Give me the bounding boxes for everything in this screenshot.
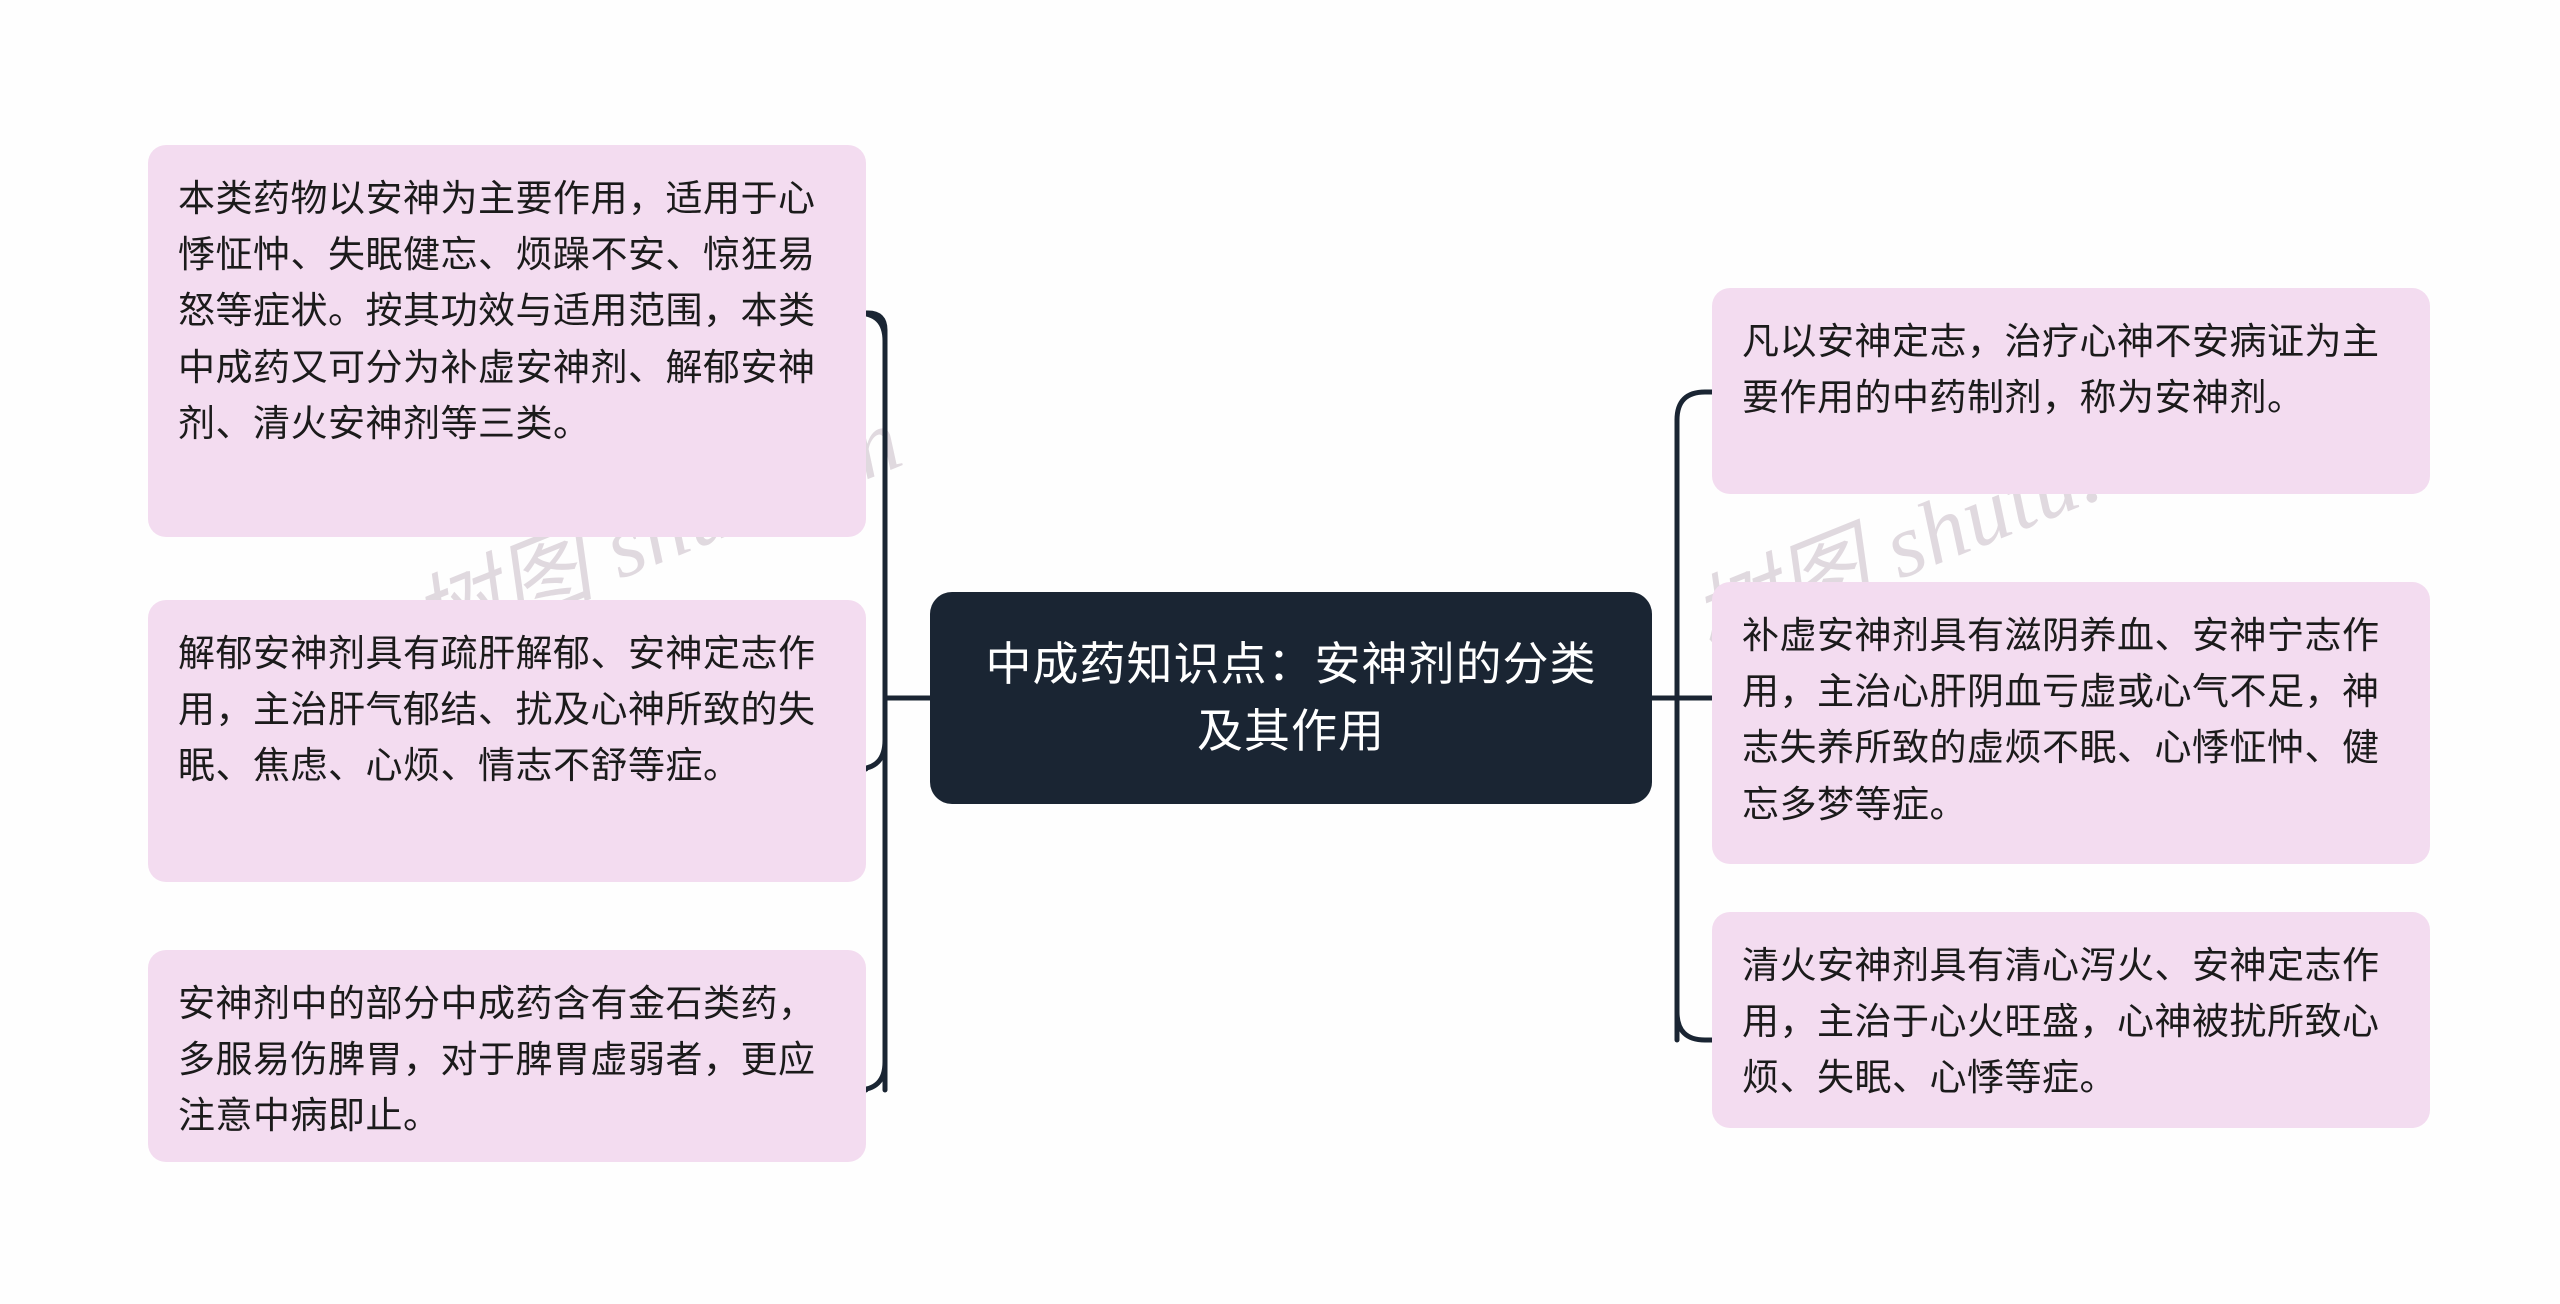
leaf-node-overview[interactable]: 本类药物以安神为主要作用，适用于心悸怔忡、失眠健忘、烦躁不安、惊狂易怒等症状。按… bbox=[148, 145, 866, 537]
connector-right-branch-3 bbox=[1677, 1012, 1712, 1040]
leaf-node-caution[interactable]: 安神剂中的部分中成药含有金石类药，多服易伤脾胃，对于脾胃虚弱者，更应注意中病即止… bbox=[148, 950, 866, 1162]
mindmap-canvas: 树图 shutu.cn 树图 shutu.cn bbox=[0, 0, 2560, 1304]
leaf-node-jieyu-anshen-label: 解郁安神剂具有疏肝解郁、安神定志作用，主治肝气郁结、扰及心神所致的失眠、焦虑、心… bbox=[178, 626, 836, 795]
connector-right-branch-1 bbox=[1677, 392, 1712, 420]
leaf-node-qinghuo-anshen[interactable]: 清火安神剂具有清心泻火、安神定志作用，主治于心火旺盛，心神被扰所致心烦、失眠、心… bbox=[1712, 912, 2430, 1128]
leaf-node-buxu-anshen[interactable]: 补虚安神剂具有滋阴养血、安神宁志作用，主治心肝阴血亏虚或心气不足，神志失养所致的… bbox=[1712, 582, 2430, 864]
central-topic-label: 中成药知识点：安神剂的分类及其作用 bbox=[970, 631, 1612, 764]
connector-left-branch-1 bbox=[866, 313, 885, 341]
leaf-node-qinghuo-anshen-label: 清火安神剂具有清心泻火、安神定志作用，主治于心火旺盛，心神被扰所致心烦、失眠、心… bbox=[1742, 938, 2400, 1107]
leaf-node-jieyu-anshen[interactable]: 解郁安神剂具有疏肝解郁、安神定志作用，主治肝气郁结、扰及心神所致的失眠、焦虑、心… bbox=[148, 600, 866, 882]
central-topic-node[interactable]: 中成药知识点：安神剂的分类及其作用 bbox=[930, 592, 1652, 804]
leaf-node-buxu-anshen-label: 补虚安神剂具有滋阴养血、安神宁志作用，主治心肝阴血亏虚或心气不足，神志失养所致的… bbox=[1742, 608, 2400, 833]
leaf-node-overview-label: 本类药物以安神为主要作用，适用于心悸怔忡、失眠健忘、烦躁不安、惊狂易怒等症状。按… bbox=[178, 171, 836, 452]
leaf-node-definition-label: 凡以安神定志，治疗心神不安病证为主要作用的中药制剂，称为安神剂。 bbox=[1742, 314, 2400, 426]
leaf-node-definition[interactable]: 凡以安神定志，治疗心神不安病证为主要作用的中药制剂，称为安神剂。 bbox=[1712, 288, 2430, 494]
leaf-node-caution-label: 安神剂中的部分中成药含有金石类药，多服易伤脾胃，对于脾胃虚弱者，更应注意中病即止… bbox=[178, 976, 836, 1145]
